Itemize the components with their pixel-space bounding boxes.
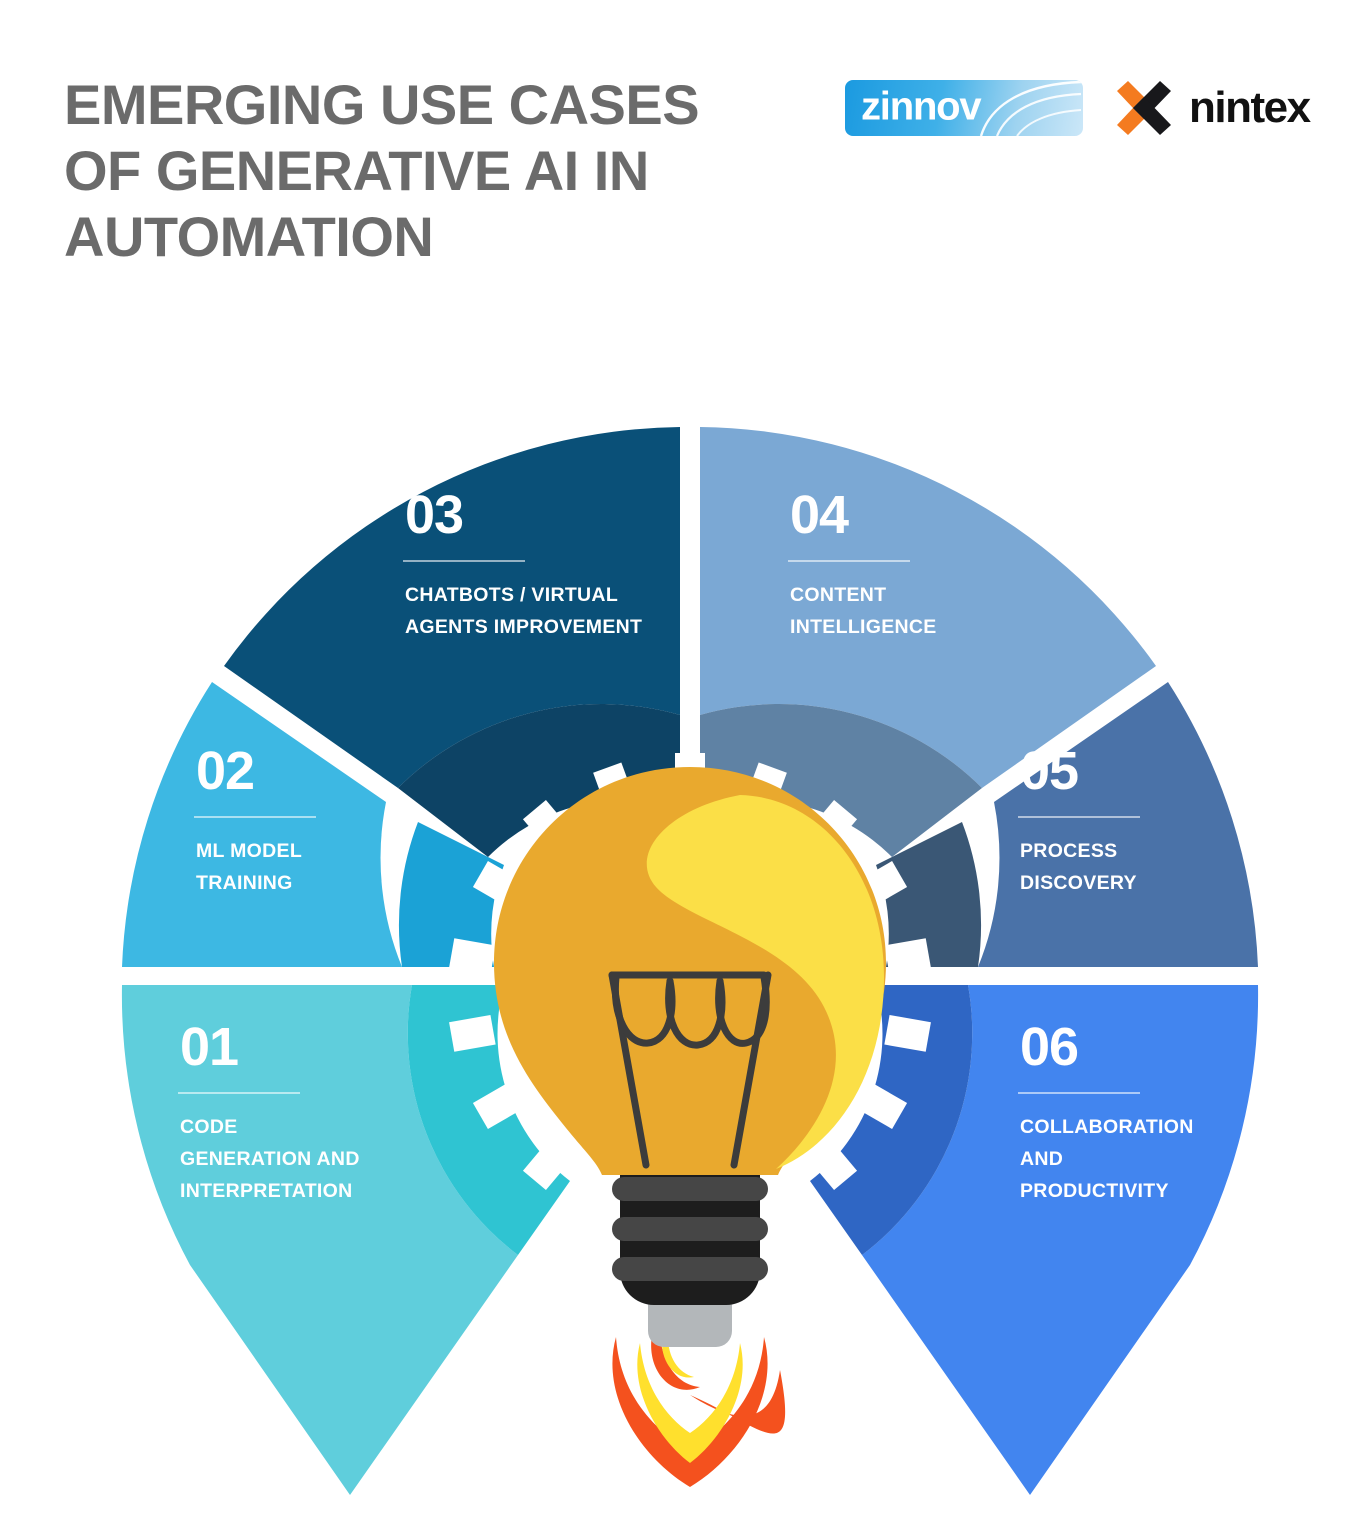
- bulb-thread-1: [612, 1177, 768, 1201]
- segment-06-number: 06: [1020, 1017, 1078, 1077]
- page-title-line-2: OF GENERATIVE AI IN: [64, 138, 764, 204]
- wheel-svg: 01 CODE GENERATION AND INTERPRETATION 02…: [100, 385, 1280, 1495]
- segment-06-label-line-2: AND: [1020, 1148, 1063, 1170]
- page-title-line-3: AUTOMATION: [64, 204, 764, 270]
- nintex-logo: nintex: [1115, 81, 1310, 135]
- logo-bar: zinnov nintex: [845, 80, 1310, 136]
- segment-05-number: 05: [1020, 741, 1078, 801]
- segment-05-label-line-1: PROCESS: [1020, 840, 1117, 862]
- segment-01-label-line-1: CODE: [180, 1116, 238, 1138]
- segment-02-label-line-2: TRAINING: [196, 872, 293, 894]
- page-title: EMERGING USE CASES OF GENERATIVE AI IN A…: [64, 72, 764, 270]
- zinnov-logo: zinnov: [845, 80, 1083, 136]
- rocket-flame-icon: [612, 1335, 785, 1487]
- segment-04-label-line-1: CONTENT: [790, 584, 886, 606]
- infographic-canvas: EMERGING USE CASES OF GENERATIVE AI IN A…: [0, 0, 1370, 1536]
- segment-03-number: 03: [405, 485, 463, 545]
- page-title-line-1: EMERGING USE CASES: [64, 72, 764, 138]
- segment-05-label-line-2: DISCOVERY: [1020, 872, 1137, 894]
- segment-wheel: 01 CODE GENERATION AND INTERPRETATION 02…: [100, 385, 1280, 1495]
- wheel-segment-06[interactable]: 06 COLLABORATION AND PRODUCTIVITY: [810, 985, 1258, 1495]
- bulb-thread-2: [612, 1217, 768, 1241]
- segment-04-label-line-2: INTELLIGENCE: [790, 616, 937, 638]
- segment-06-label-line-1: COLLABORATION: [1020, 1116, 1194, 1138]
- header: EMERGING USE CASES OF GENERATIVE AI IN A…: [0, 0, 1370, 310]
- bulb-thread-3: [612, 1257, 768, 1281]
- segment-01-number: 01: [180, 1017, 238, 1077]
- zinnov-swoosh-icon: [973, 80, 1083, 136]
- zinnov-wordmark: zinnov: [861, 85, 980, 130]
- segment-02-number: 02: [196, 741, 254, 801]
- segment-04-number: 04: [790, 485, 849, 545]
- segment-06-label-line-3: PRODUCTIVITY: [1020, 1180, 1169, 1202]
- segment-03-label-line-2: AGENTS IMPROVEMENT: [405, 616, 642, 638]
- segment-01-label-line-2: GENERATION AND: [180, 1148, 360, 1170]
- nintex-wordmark: nintex: [1189, 83, 1310, 133]
- segment-03-label-line-1: CHATBOTS / VIRTUAL: [405, 584, 618, 606]
- segment-01-label-line-3: INTERPRETATION: [180, 1180, 352, 1202]
- wheel-segment-01[interactable]: 01 CODE GENERATION AND INTERPRETATION: [122, 985, 570, 1495]
- nintex-x-mark-icon: [1115, 81, 1173, 135]
- lightbulb-rocket-graphic: [494, 767, 886, 1487]
- segment-02-label-line-1: ML MODEL: [196, 840, 302, 862]
